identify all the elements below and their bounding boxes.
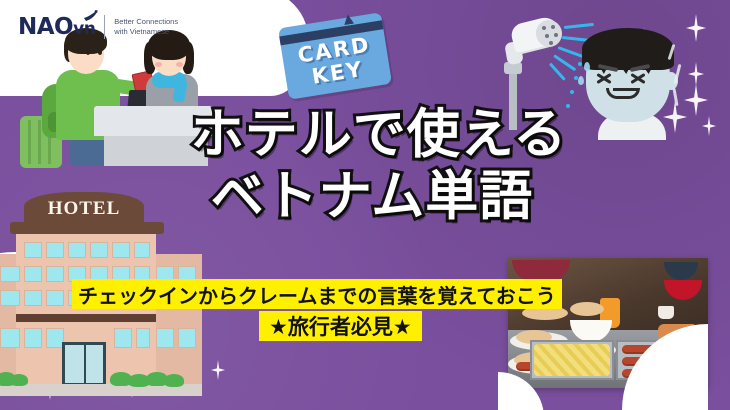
tagline-line-1: Better Connections	[114, 17, 178, 27]
hotel-entrance	[62, 342, 106, 386]
shivering-person-illustration	[578, 26, 686, 130]
hotel-sign: HOTEL	[24, 192, 144, 226]
checkin-scene-illustration	[24, 28, 214, 163]
thumbnail-canvas: HOTEL	[0, 0, 730, 410]
brand-logo[interactable]: NAOvn Better Connections with Vietnamese	[18, 14, 178, 40]
hair-icon	[582, 28, 674, 70]
brand-suffix: vn	[73, 19, 95, 39]
brand-tagline: Better Connections with Vietnamese	[114, 17, 178, 37]
brand-name: NAO	[18, 14, 73, 40]
subtitle-band-2: ★旅行者必見★	[259, 311, 422, 341]
subtitle-line-1: チェックインからクレームまでの言葉を覚えておこう	[78, 280, 556, 309]
logo-divider	[104, 15, 105, 39]
brand-wordmark: NAOvn	[18, 14, 95, 40]
subtitle-line-2: ★旅行者必見★	[269, 311, 412, 341]
tagline-line-2: with Vietnamese	[114, 27, 178, 37]
bird-icon	[83, 10, 99, 22]
shower-head-illustration	[492, 18, 588, 128]
hotel-sign-text: HOTEL	[24, 192, 144, 226]
subtitle-band-1: チェックインからクレームまでの言葉を覚えておこう	[72, 279, 562, 309]
